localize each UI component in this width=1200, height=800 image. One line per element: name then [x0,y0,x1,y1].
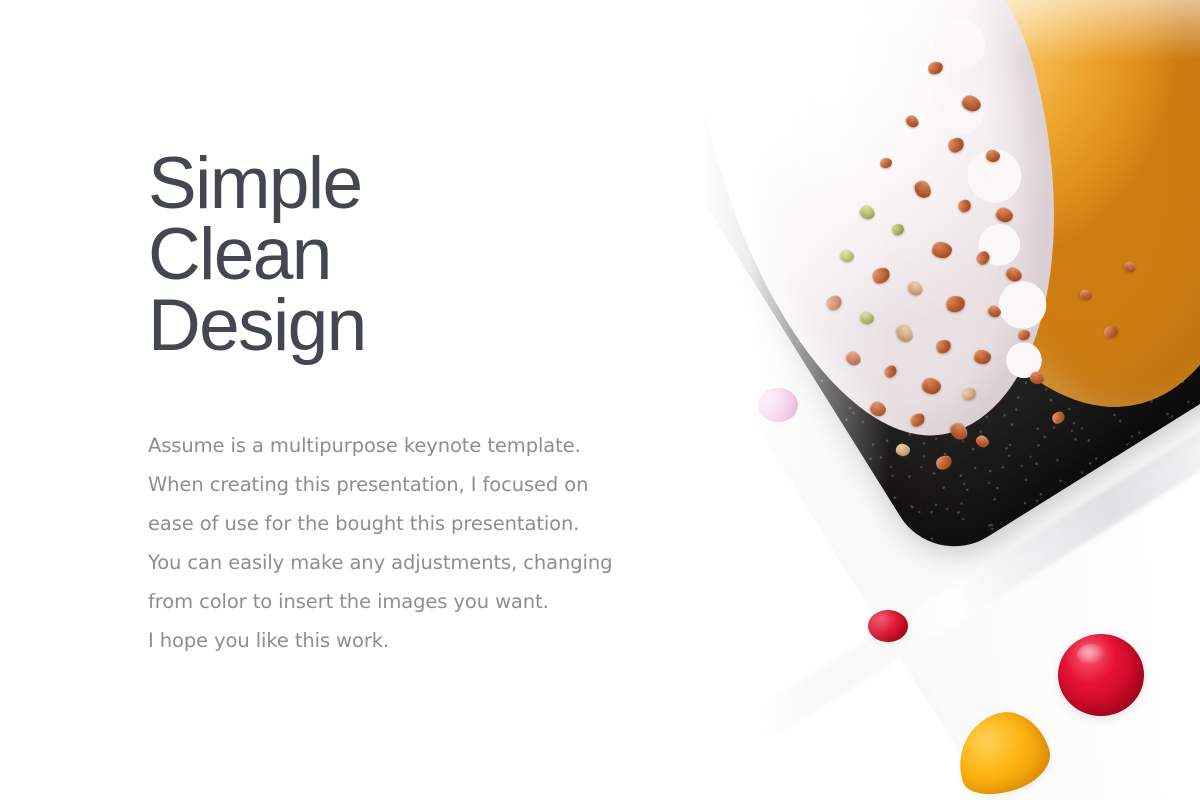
nut-piece [858,203,878,222]
nut-piece [879,157,892,169]
nut-piece [839,248,856,263]
body-line-5: from color to insert the images you want… [148,582,688,621]
nut-piece [947,420,970,443]
nut-piece [934,453,954,472]
nut-piece [890,222,905,236]
headline-line-3: Design [148,290,668,361]
nut-piece [994,206,1015,225]
headline-line-2: Clean [148,219,668,290]
nut-piece [844,349,864,368]
donut-photo [700,0,1200,800]
nut-piece [904,113,921,130]
nut-piece [908,411,927,429]
nut-piece [931,241,953,260]
nut-piece [946,135,967,155]
body-line-6: I hope you like this work. [148,621,688,660]
nut-piece [894,322,917,345]
nut-piece [870,265,893,287]
body-line-2: When creating this presentation, I focus… [148,465,688,504]
nut-piece [858,310,875,326]
nut-piece [961,386,978,401]
nut-piece [974,433,991,450]
candy-dot-pink [758,388,798,422]
nut-piece [1028,370,1045,386]
photo-composition [700,0,1200,800]
nut-piece [960,93,983,114]
nut-piece [1050,409,1067,426]
nut-piece [1017,329,1031,341]
nut-piece [912,178,935,201]
nut-piece [1079,289,1093,302]
nut-piece [973,349,991,365]
body-line-4: You can easily make any adjustments, cha… [148,543,688,582]
nut-piece [985,149,1001,164]
page-title: Simple Clean Design [148,148,668,361]
nut-piece [945,294,967,314]
headline-line-1: Simple [148,148,668,219]
nut-piece [823,293,844,314]
body-line-1: Assume is a multipurpose keynote templat… [148,426,688,465]
nut-piece [927,60,945,76]
nut-piece [986,304,1003,320]
nut-piece [895,443,911,457]
nut-piece [1122,260,1137,275]
body-line-3: ease of use for the bought this presenta… [148,504,688,543]
nut-piece [1004,265,1024,284]
headline-block: Simple Clean Design [148,148,668,361]
candy-dot-red-small [868,610,908,642]
nut-piece [974,249,992,267]
candy-dot-red-large [1058,634,1144,716]
body-copy-block: Assume is a multipurpose keynote templat… [148,426,688,660]
nut-piece [868,399,889,419]
slide-canvas: Simple Clean Design Assume is a multipur… [0,0,1200,800]
nut-piece [934,338,953,356]
nut-piece [1102,324,1119,340]
nut-piece [956,197,974,215]
nut-piece [882,363,899,380]
nut-piece [906,279,926,299]
nut-piece [920,376,942,396]
